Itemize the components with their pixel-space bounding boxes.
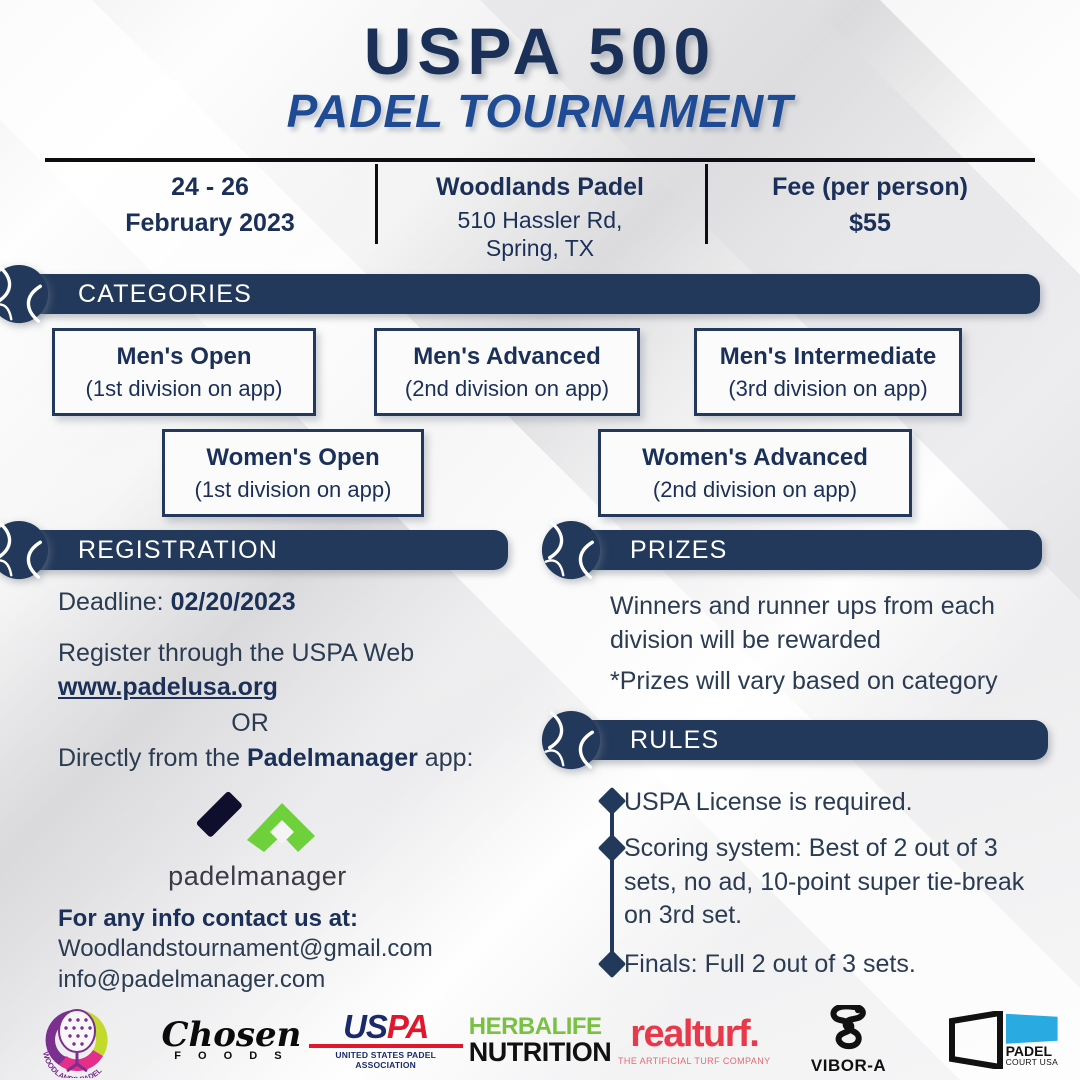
venue-name: Woodlands Padel — [436, 170, 644, 206]
section-header-rules: RULES — [574, 720, 1048, 760]
padelmanager-logo: padelmanager — [150, 790, 365, 892]
sponsor-padel-court-usa: PADEL COURT USA — [926, 1000, 1080, 1080]
category-note: (2nd division on app) — [405, 374, 609, 404]
rule-item: Finals: Full 2 out of 3 sets. — [624, 948, 1044, 982]
sponsor-uspa: USPA UNITED STATES PADEL ASSOCIATION — [309, 1000, 463, 1080]
category-box: Women's Open (1st division on app) — [162, 429, 424, 517]
category-note: (1st division on app) — [195, 475, 392, 505]
vibor-a-snake-icon — [814, 1005, 884, 1051]
contact-email-2[interactable]: info@padelmanager.com — [58, 966, 325, 994]
registration-app-line: Directly from the Padelmanager app: — [58, 744, 473, 773]
category-box: Men's Open (1st division on app) — [52, 328, 316, 416]
info-date: 24 - 26 February 2023 — [45, 162, 375, 250]
category-box: Men's Advanced (2nd division on app) — [374, 328, 640, 416]
registration-web-line: Register through the USPA Web — [58, 639, 414, 668]
registration-url[interactable]: www.padelusa.org — [58, 673, 278, 702]
prizes-line-1: Winners and runner ups from each divisio… — [610, 589, 1040, 657]
category-box: Men's Intermediate (3rd division on app) — [694, 328, 962, 416]
title-subtitle: PADEL TOURNAMENT — [0, 87, 1080, 135]
section-header-prizes: PRIZES — [574, 530, 1042, 570]
registration-deadline: Deadline: 02/20/2023 — [58, 588, 296, 617]
venue-address-line1: 510 Hassler Rd, — [458, 206, 623, 234]
deadline-label: Deadline: — [58, 588, 171, 616]
herbalife-caption: NUTRITION — [469, 1039, 611, 1066]
rules-connector-line — [610, 800, 614, 972]
category-name: Women's Open — [206, 442, 379, 473]
app-name: Padelmanager — [247, 744, 418, 772]
padel-ball-icon — [540, 519, 602, 581]
section-label-categories: CATEGORIES — [78, 280, 252, 309]
section-label-rules: RULES — [630, 726, 719, 755]
section-label-registration: REGISTRATION — [78, 536, 278, 565]
section-header-categories: CATEGORIES — [22, 274, 1040, 314]
padel-ball-icon — [0, 263, 50, 325]
padelmanager-wordmark: padelmanager — [150, 861, 365, 892]
uspa-caption: UNITED STATES PADEL ASSOCIATION — [309, 1050, 463, 1070]
contact-heading: For any info contact us at: — [58, 905, 358, 933]
date-month: February 2023 — [125, 206, 295, 242]
chosen-wordmark: Chosen — [161, 1019, 301, 1051]
vibor-a-wordmark: VIBOR-A — [811, 1056, 886, 1076]
poster-canvas: USPA 500 PADEL TOURNAMENT 24 - 26 Februa… — [0, 0, 1080, 1080]
padel-ball-icon — [540, 709, 602, 771]
deadline-value: 02/20/2023 — [171, 588, 296, 616]
sponsor-footer: WOODLANDS PADEL Chosen F O O D S USPA UN… — [0, 1000, 1080, 1080]
woodlands-padel-logo-icon: WOODLANDS PADEL — [33, 1002, 121, 1078]
sponsor-vibor-a: VIBOR-A — [771, 1000, 925, 1080]
title-main: USPA 500 — [0, 18, 1080, 85]
chosen-caption: F O O D S — [161, 1051, 301, 1061]
rule-bullet-diamond-icon — [598, 950, 626, 978]
category-name: Men's Intermediate — [720, 341, 936, 372]
category-note: (3rd division on app) — [728, 374, 927, 404]
registration-or: OR — [0, 709, 500, 738]
fee-value: $55 — [849, 206, 891, 242]
category-note: (2nd division on app) — [653, 475, 857, 505]
info-fee: Fee (per person) $55 — [705, 162, 1035, 250]
sponsor-realturf: realturf. THE ARTIFICIAL TURF COMPANY — [617, 1000, 771, 1080]
category-note: (1st division on app) — [86, 374, 283, 404]
section-header-registration: REGISTRATION — [22, 530, 508, 570]
padelmanager-mark-icon — [190, 790, 325, 852]
herbalife-wordmark: HERBALIFE — [469, 1015, 611, 1039]
category-name: Women's Advanced — [642, 442, 868, 473]
category-box: Women's Advanced (2nd division on app) — [598, 429, 912, 517]
padel-court-usa-wordmark: PADEL — [1006, 1044, 1058, 1058]
realturf-caption: THE ARTIFICIAL TURF COMPANY — [618, 1056, 770, 1066]
date-range: 24 - 26 — [171, 170, 249, 206]
rule-item: Scoring system: Best of 2 out of 3 sets,… — [624, 832, 1044, 933]
padel-ball-icon — [0, 519, 50, 581]
info-venue: Woodlands Padel 510 Hassler Rd, Spring, … — [375, 162, 705, 250]
sponsor-herbalife: HERBALIFE NUTRITION — [463, 1000, 617, 1080]
fee-label: Fee (per person) — [772, 170, 968, 206]
uspa-wordmark: USPA — [309, 1010, 463, 1043]
padel-court-usa-caption: COURT USA — [1006, 1058, 1058, 1067]
category-name: Men's Advanced — [413, 341, 601, 372]
section-label-prizes: PRIZES — [630, 536, 728, 565]
sponsor-chosen-foods: Chosen F O O D S — [154, 1000, 308, 1080]
realturf-wordmark: realturf. — [618, 1015, 770, 1053]
app-suffix: app: — [418, 744, 474, 772]
rule-bullet-diamond-icon — [598, 787, 626, 815]
info-bar: 24 - 26 February 2023 Woodlands Padel 51… — [45, 162, 1035, 250]
padel-court-usa-mark-icon — [948, 1011, 1010, 1069]
rule-bullet-diamond-icon — [598, 834, 626, 862]
prizes-line-2: *Prizes will vary based on category — [610, 667, 1050, 696]
category-name: Men's Open — [116, 341, 251, 372]
rule-item: USPA License is required. — [624, 786, 1044, 820]
contact-email-1[interactable]: Woodlandstournament@gmail.com — [58, 935, 433, 963]
venue-address-line2: Spring, TX — [486, 234, 594, 262]
poster-title: USPA 500 PADEL TOURNAMENT — [0, 18, 1080, 136]
sponsor-woodlands-padel: WOODLANDS PADEL — [0, 1000, 154, 1080]
app-prefix: Directly from the — [58, 744, 247, 772]
